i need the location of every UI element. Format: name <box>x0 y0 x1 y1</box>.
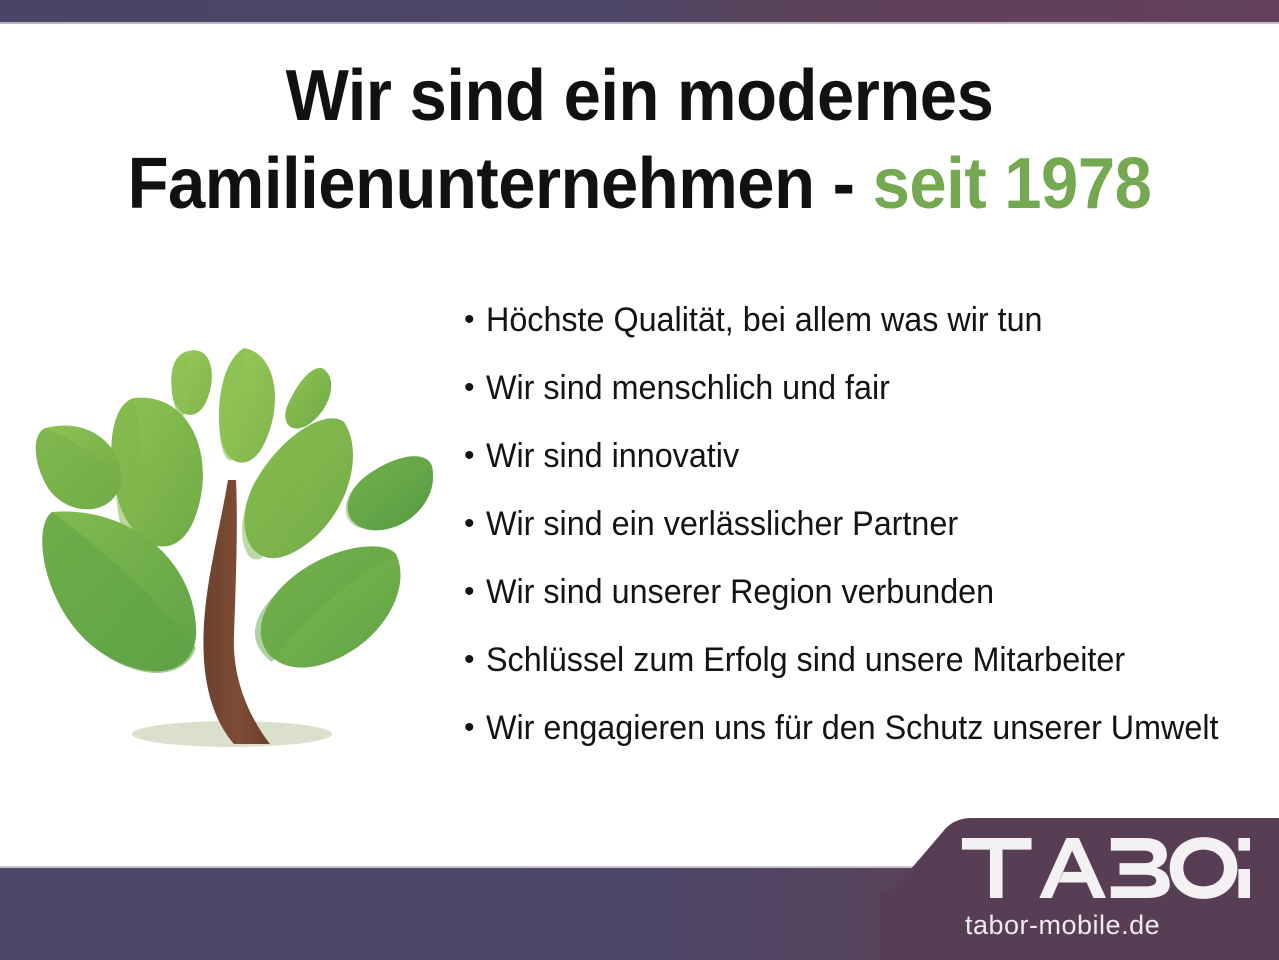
bullet-icon: • <box>458 368 486 408</box>
list-item: • Wir sind innovativ <box>458 436 1268 504</box>
headline-line-2: Familienunternehmen - seit 1978 <box>45 140 1234 228</box>
badge-shape <box>880 818 1279 960</box>
bullet-icon: • <box>458 572 486 612</box>
tree-leaf-mid-left <box>111 398 203 547</box>
bullet-list: • Höchste Qualität, bei allem was wir tu… <box>458 300 1268 776</box>
bullet-icon: • <box>458 504 486 544</box>
slide-root: Wir sind ein modernes Familienunternehme… <box>0 0 1279 960</box>
bullet-icon: • <box>458 300 486 340</box>
headline-line-2-prefix: Familienunternehmen - <box>128 144 873 224</box>
tree-leaf-left-small <box>36 426 122 510</box>
list-item-label: Wir sind unserer Region verbunden <box>486 572 994 612</box>
tree-icon <box>22 330 442 762</box>
top-accent-bar <box>0 0 1279 22</box>
list-item-label: Schlüssel zum Erfolg sind unsere Mitarbe… <box>486 640 1125 680</box>
list-item: • Schlüssel zum Erfolg sind unsere Mitar… <box>458 640 1268 708</box>
list-item: • Wir sind ein verlässlicher Partner <box>458 504 1268 572</box>
brand-logo-badge[interactable]: tabor-mobile.de <box>880 798 1279 960</box>
bullet-icon: • <box>458 436 486 476</box>
list-item-label: Wir sind innovativ <box>486 436 739 476</box>
headline-line-1: Wir sind ein modernes <box>45 52 1234 140</box>
list-item-label: Wir sind menschlich und fair <box>486 368 890 408</box>
list-item: • Wir sind menschlich und fair <box>458 368 1268 436</box>
headline-accent-since-1978: seit 1978 <box>873 144 1152 224</box>
top-accent-bar-edge <box>0 22 1279 24</box>
tree-leaf-lower-right <box>255 546 400 667</box>
list-item: • Höchste Qualität, bei allem was wir tu… <box>458 300 1268 368</box>
list-item: • Wir sind unserer Region verbunden <box>458 572 1268 640</box>
page-title: Wir sind ein modernes Familienunternehme… <box>45 52 1234 228</box>
bullet-icon: • <box>458 640 486 680</box>
tree-leaf-right-small <box>346 456 433 530</box>
list-item-label: Wir sind ein verlässlicher Partner <box>486 504 958 544</box>
list-item: • Wir engagieren uns für den Schutz unse… <box>458 708 1268 776</box>
list-item-label: Wir engagieren uns für den Schutz unsere… <box>486 708 1218 748</box>
list-item-label: Höchste Qualität, bei allem was wir tun <box>486 300 1043 340</box>
bullet-icon: • <box>458 708 486 748</box>
